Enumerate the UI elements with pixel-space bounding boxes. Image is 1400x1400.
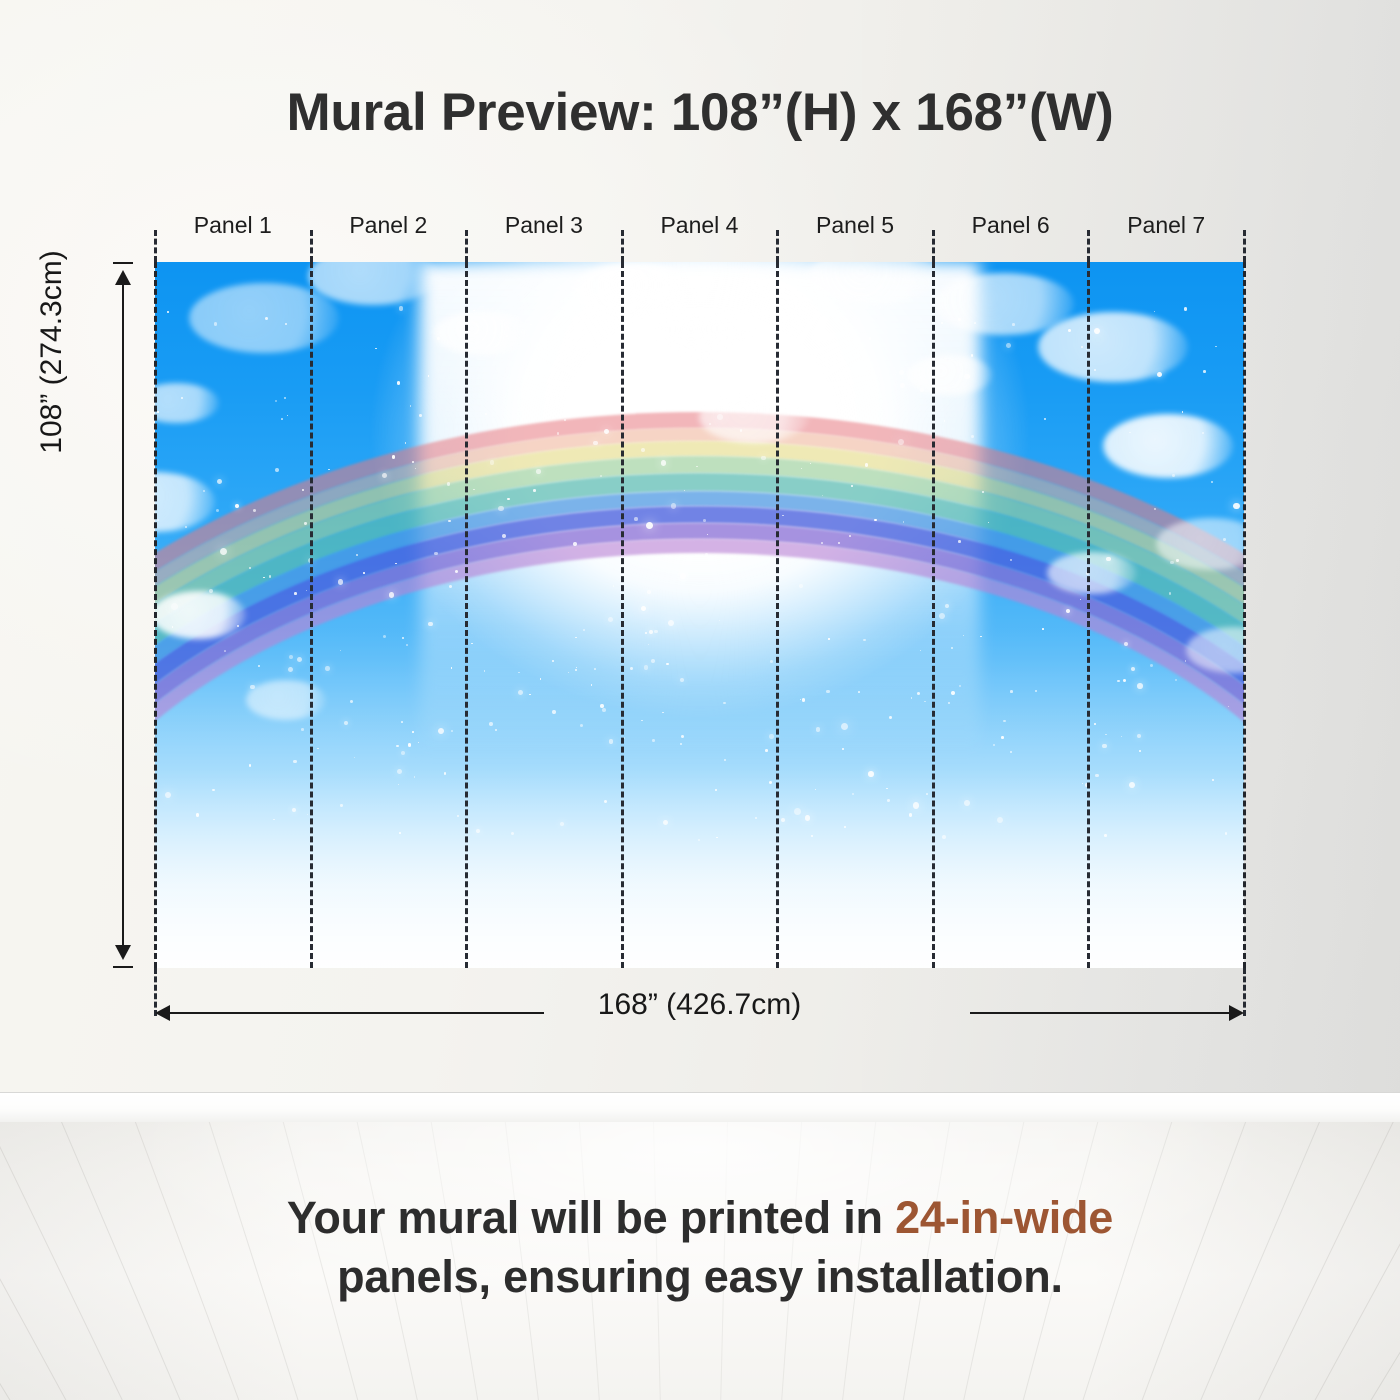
sparkle: [203, 490, 205, 492]
sparkle: [328, 469, 330, 471]
sparkle: [281, 418, 283, 420]
height-dimension-label: 108” (274.3cm): [35, 72, 69, 632]
sparkle: [1184, 307, 1188, 311]
sparkle: [275, 400, 277, 402]
width-dimension-label: 168” (426.7cm): [584, 988, 815, 1022]
height-tick-top: [113, 262, 133, 264]
panel-divider-line: [1087, 262, 1090, 968]
caption-text-before: Your mural will be printed in: [287, 1192, 895, 1243]
sparkle: [167, 311, 169, 313]
panel-label-4: Panel 4: [622, 210, 778, 240]
height-arrow-shaft: [122, 272, 124, 958]
sparkle: [1154, 311, 1155, 312]
sparkle: [1215, 346, 1217, 348]
panel-label-7: Panel 7: [1088, 210, 1244, 240]
mural-artwork: [155, 262, 1244, 968]
caption-highlight: 24-in-wide: [895, 1192, 1113, 1243]
sparkle: [1094, 369, 1095, 370]
sparkle: [1233, 503, 1239, 509]
cloud: [1038, 312, 1188, 382]
arrow-up-icon: [115, 270, 131, 285]
mural-preview-area: [155, 262, 1244, 968]
height-dimension-arrow: [112, 262, 134, 968]
cloud: [155, 383, 219, 423]
sparkle: [1172, 474, 1175, 477]
sparkle: [1203, 370, 1206, 373]
width-arrow-shaft-right: [970, 1012, 1230, 1014]
arrow-down-icon: [115, 945, 131, 960]
panel-divider-line: [310, 262, 313, 968]
baseboard: [0, 1092, 1400, 1122]
sparkle: [1182, 411, 1184, 413]
panel-label-2: Panel 2: [311, 210, 467, 240]
panel-divider-line: [465, 262, 468, 968]
sparkle: [216, 509, 219, 512]
panel-label-3: Panel 3: [466, 210, 622, 240]
width-arrow-shaft-left: [169, 1012, 544, 1014]
sparkle: [185, 526, 187, 528]
panel-label-5: Panel 5: [777, 210, 933, 240]
cloud: [1103, 414, 1233, 478]
sparkle: [181, 397, 183, 399]
height-tick-bottom: [113, 966, 133, 968]
sparkle: [157, 411, 158, 412]
width-dimension-arrow: 168” (426.7cm): [155, 1002, 1244, 1024]
sparkle: [275, 468, 279, 472]
sparkle: [287, 415, 288, 416]
sparkle: [217, 479, 223, 485]
mural-edge-line: [1243, 262, 1246, 968]
sparkle: [265, 317, 268, 320]
panel-label-1: Panel 1: [155, 210, 311, 240]
sparkle: [1129, 432, 1131, 434]
sparkle: [1211, 481, 1213, 483]
sparkle: [1044, 418, 1046, 420]
footer-caption: Your mural will be printed in 24-in-wide…: [0, 1188, 1400, 1307]
sparkle: [1068, 329, 1071, 332]
caption-line1: Your mural will be printed in 24-in-wide: [287, 1192, 1113, 1243]
mural-edge-line: [154, 262, 157, 968]
caption-line2: panels, ensuring easy installation.: [337, 1251, 1063, 1302]
panel-label-6: Panel 6: [933, 210, 1089, 240]
sparkle: [1081, 346, 1083, 348]
sparkle: [1094, 328, 1100, 334]
panel-divider-line: [932, 262, 935, 968]
panel-divider-line: [776, 262, 779, 968]
arrow-right-icon: [1229, 1005, 1244, 1021]
sparkle: [1202, 432, 1204, 434]
cloud: [189, 283, 339, 353]
sparkle: [214, 322, 217, 325]
panel-divider-line: [621, 262, 624, 968]
sparkle: [284, 397, 286, 399]
arrow-left-icon: [155, 1005, 170, 1021]
sparkle: [1157, 372, 1162, 377]
sparkle: [285, 323, 287, 325]
page-title: Mural Preview: 108”(H) x 168”(W): [0, 82, 1400, 143]
sparkle: [1223, 538, 1226, 541]
